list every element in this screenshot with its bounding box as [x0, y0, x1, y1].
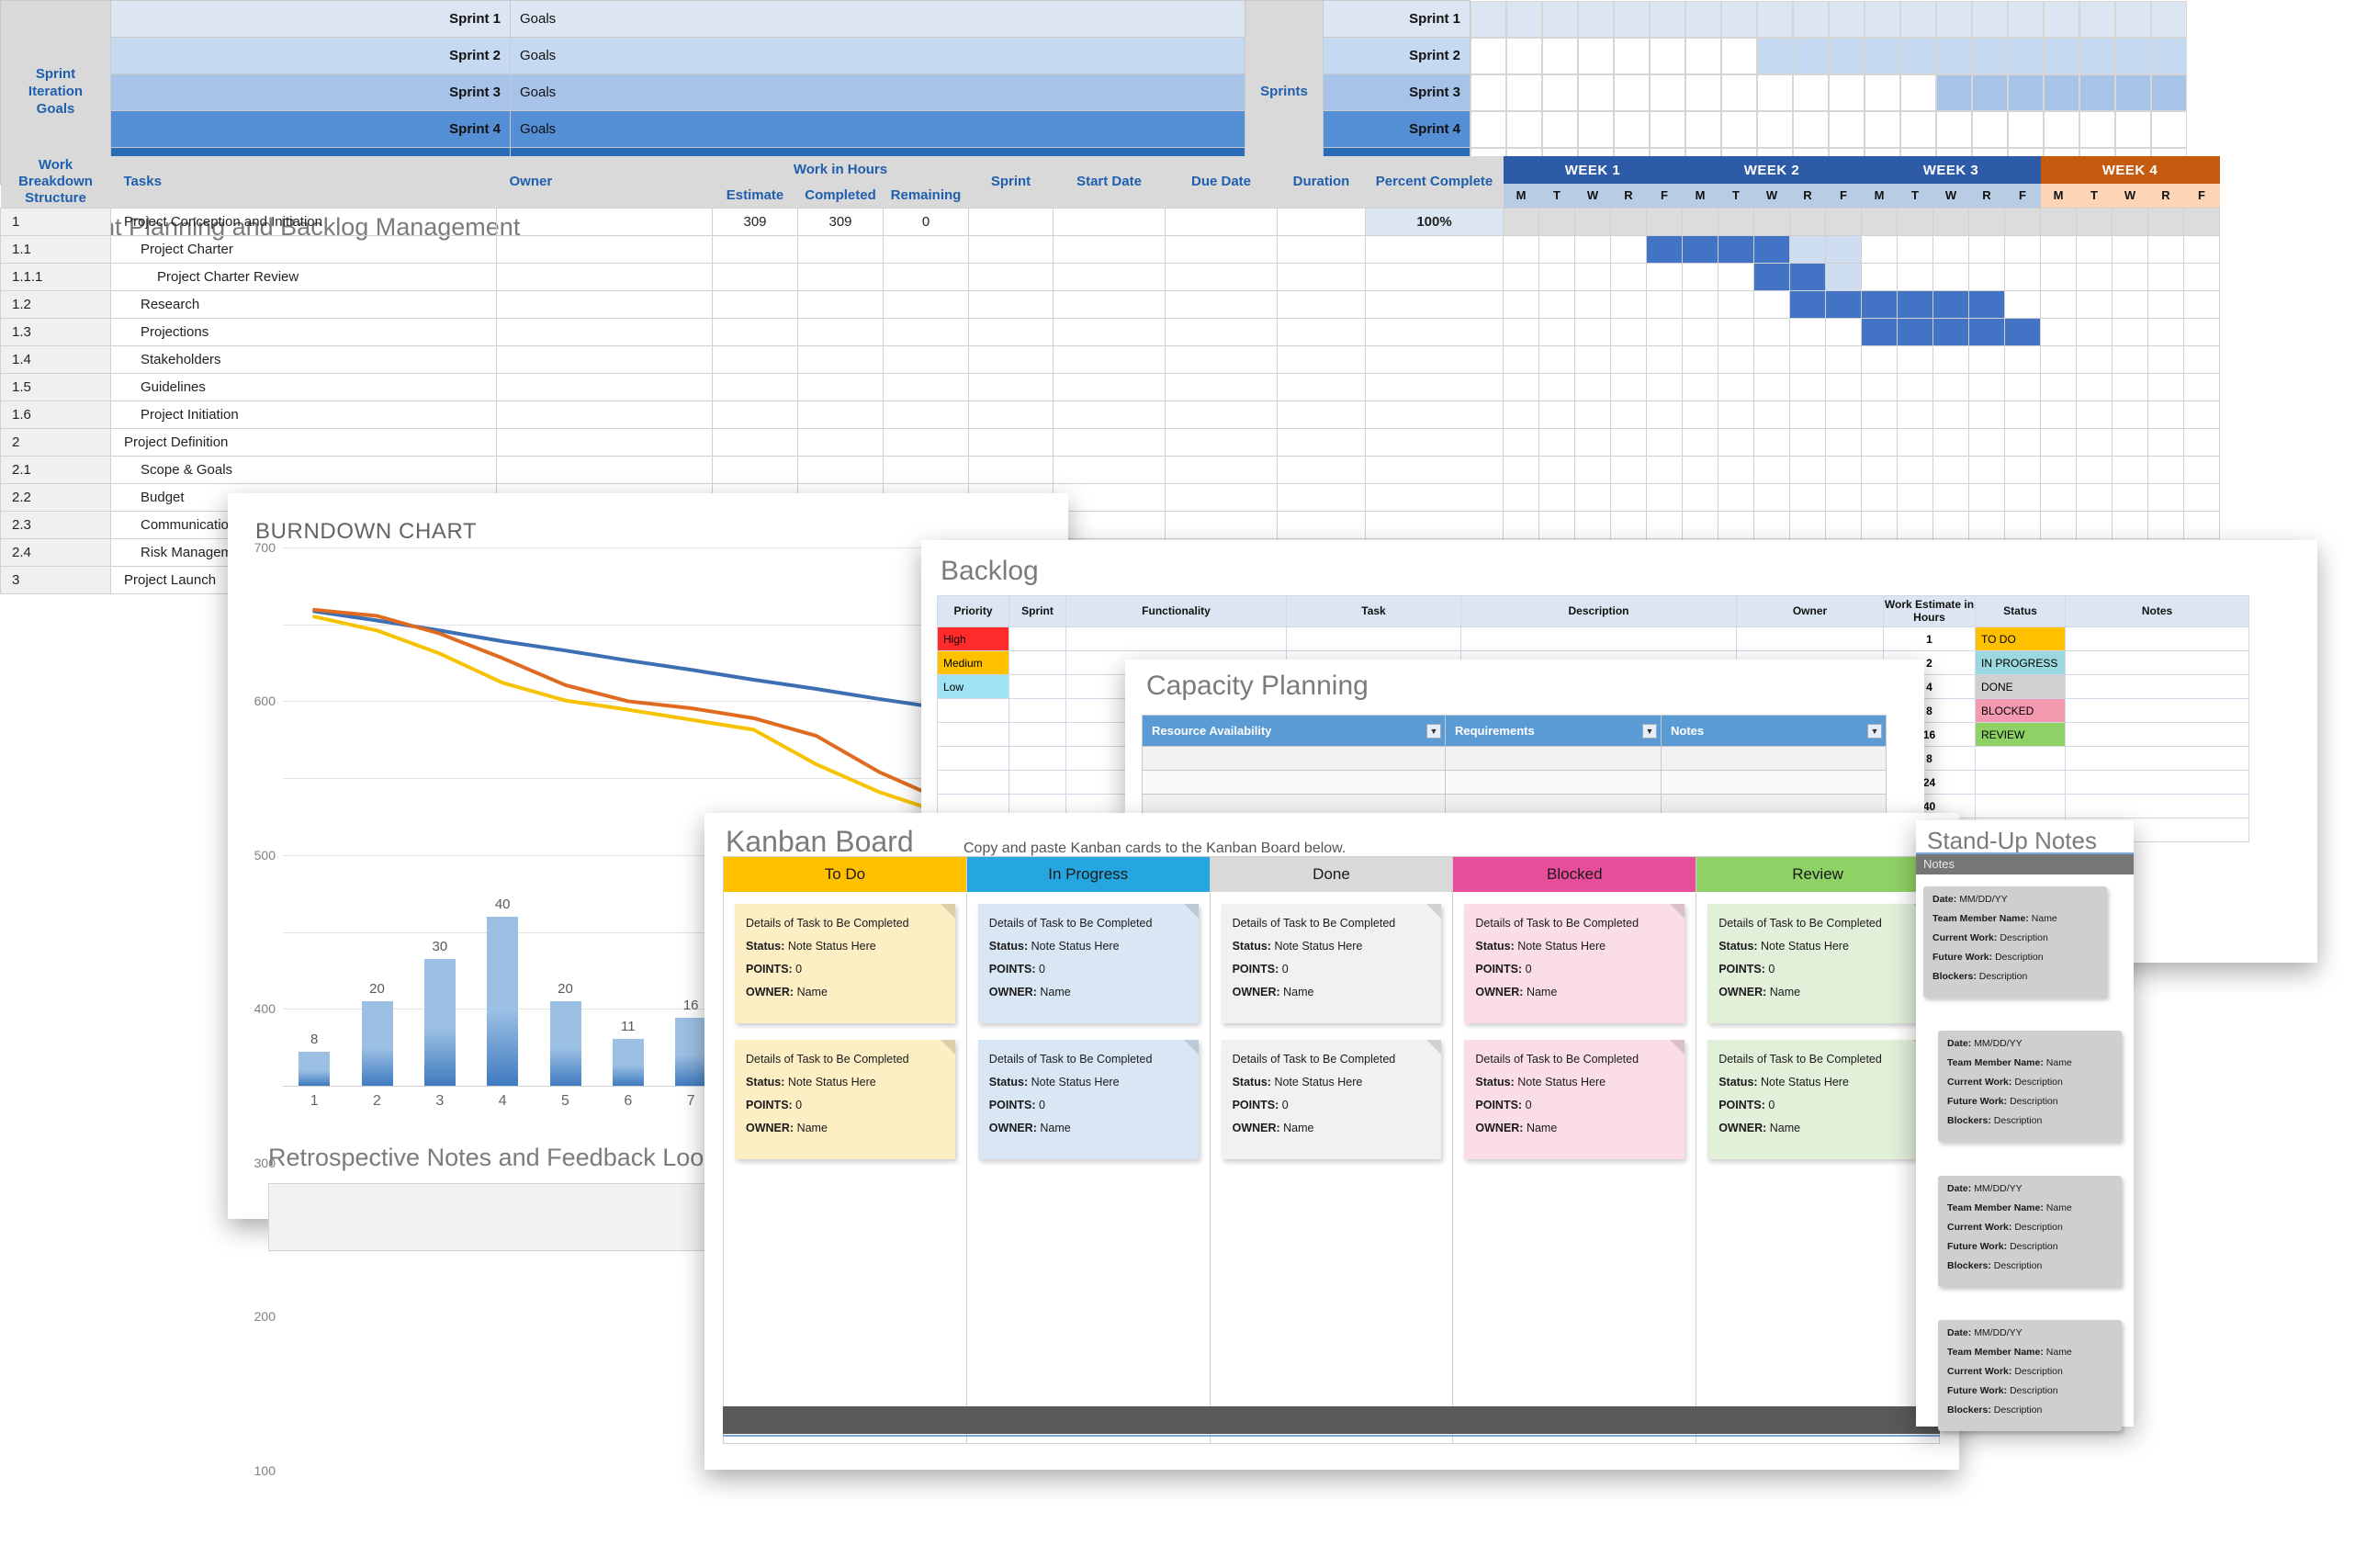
- kanban-column-header[interactable]: Review: [1696, 857, 1939, 892]
- cell-estimate[interactable]: [713, 373, 798, 400]
- backlog-cell-status[interactable]: [1976, 747, 2066, 771]
- cell-completed[interactable]: [798, 428, 884, 456]
- cell-sprint[interactable]: [969, 400, 1054, 428]
- card-label: OWNER:: [1718, 1122, 1770, 1134]
- sprint-goal-cell[interactable]: Goals: [511, 1, 1245, 38]
- backlog-cell-sprint[interactable]: [1009, 747, 1066, 771]
- card-label: Status:: [746, 940, 788, 953]
- day-header-f: F: [1826, 184, 1862, 208]
- backlog-cell-status[interactable]: REVIEW: [1976, 723, 2066, 747]
- x-axis-tick: 4: [499, 1093, 507, 1110]
- cell-remaining[interactable]: [884, 235, 969, 263]
- backlog-cell-sprint[interactable]: [1009, 771, 1066, 795]
- cell-completed[interactable]: [798, 456, 884, 483]
- cell-due-date[interactable]: [1166, 483, 1278, 511]
- timeline-cell: [1900, 111, 1936, 148]
- cell-start-date[interactable]: [1054, 235, 1166, 263]
- backlog-cell-sprint[interactable]: [1009, 723, 1066, 747]
- cell-sprint[interactable]: [969, 428, 1054, 456]
- kanban-card[interactable]: Details of Task to Be CompletedStatus: N…: [978, 1040, 1199, 1159]
- card-status: Status: Note Status Here: [1475, 940, 1673, 953]
- kanban-column-header[interactable]: To Do: [724, 857, 966, 892]
- kanban-column-header[interactable]: Blocked: [1453, 857, 1696, 892]
- gantt-cell: [2113, 290, 2148, 318]
- cell-sprint[interactable]: [969, 318, 1054, 345]
- cell-duration[interactable]: [1278, 400, 1366, 428]
- backlog-cell-priority[interactable]: [938, 771, 1009, 795]
- cell-estimate[interactable]: 309: [713, 208, 798, 235]
- kanban-card[interactable]: Details of Task to Be CompletedStatus: N…: [1464, 1040, 1685, 1159]
- cell-duration[interactable]: [1278, 428, 1366, 456]
- cell-due-date[interactable]: [1166, 345, 1278, 373]
- sprint-name-cell: Sprint 3: [111, 74, 511, 111]
- note-label: Future Work:: [1947, 1241, 2010, 1252]
- card-label: OWNER:: [989, 986, 1041, 998]
- timeline-cell: [2151, 74, 2187, 111]
- week-header-1: WEEK 1: [1504, 156, 1683, 184]
- cell-owner[interactable]: [497, 208, 713, 235]
- backlog-cell-sprint[interactable]: [1009, 627, 1066, 651]
- cell-completed[interactable]: [798, 318, 884, 345]
- cell-estimate[interactable]: [713, 428, 798, 456]
- cell-duration[interactable]: [1278, 263, 1366, 290]
- gantt-cell: [2041, 290, 2077, 318]
- gantt-cell: [1611, 290, 1647, 318]
- cell-owner[interactable]: [497, 263, 713, 290]
- timeline-cell: [1721, 1, 1757, 38]
- backlog-col-header-5: Owner: [1737, 596, 1884, 627]
- gantt-cell: [1647, 345, 1683, 373]
- gantt-cell: [1683, 235, 1718, 263]
- cell-completed[interactable]: [798, 290, 884, 318]
- cell-duration[interactable]: [1278, 483, 1366, 511]
- day-header-m: M: [2041, 184, 2077, 208]
- backlog-cell-notes[interactable]: [2066, 771, 2249, 795]
- cell-remaining[interactable]: [884, 318, 969, 345]
- kanban-column-to-do: To DoDetails of Task to Be CompletedStat…: [724, 857, 967, 1443]
- backlog-cell-sprint[interactable]: [1009, 675, 1066, 699]
- cell-due-date[interactable]: [1166, 208, 1278, 235]
- cell-sprint[interactable]: [969, 456, 1054, 483]
- backlog-cell-sprint[interactable]: [1009, 651, 1066, 675]
- gantt-cell: [1539, 208, 1575, 235]
- cell-percent-complete[interactable]: [1366, 511, 1504, 538]
- timeline-cell: [1506, 74, 1542, 111]
- backlog-col-header-8: Notes: [2066, 596, 2249, 627]
- gantt-cell: [2148, 208, 2184, 235]
- note-label: Date:: [1947, 1327, 1974, 1338]
- cell-percent-complete[interactable]: [1366, 318, 1504, 345]
- cell-start-date[interactable]: [1054, 345, 1166, 373]
- kanban-card[interactable]: Details of Task to Be CompletedStatus: N…: [735, 904, 955, 1023]
- timeline-cell: [1972, 74, 2008, 111]
- cell-start-date[interactable]: [1054, 400, 1166, 428]
- sprint-name-cell-right: Sprint 2: [1324, 38, 1470, 74]
- cell-completed[interactable]: [798, 345, 884, 373]
- card-label: OWNER:: [1233, 1122, 1284, 1134]
- backlog-cell-status[interactable]: TO DO: [1976, 627, 2066, 651]
- capacity-cell[interactable]: [1143, 771, 1446, 795]
- gantt-cell: [1969, 318, 2005, 345]
- timeline-cell: [1793, 1, 1829, 38]
- cell-sprint[interactable]: [969, 345, 1054, 373]
- cell-due-date[interactable]: [1166, 263, 1278, 290]
- cell-duration[interactable]: [1278, 208, 1366, 235]
- cell-wbs: 1.6: [1, 400, 111, 428]
- cell-task[interactable]: Project Charter: [111, 235, 497, 263]
- backlog-cell-notes[interactable]: [2066, 699, 2249, 723]
- y-axis-tick: 700: [254, 540, 276, 555]
- timeline-cell: [1542, 38, 1578, 74]
- cell-task[interactable]: Stakeholders: [111, 345, 497, 373]
- cell-task[interactable]: Guidelines: [111, 373, 497, 400]
- cell-owner[interactable]: [497, 345, 713, 373]
- cell-percent-complete[interactable]: [1366, 456, 1504, 483]
- sprint-goal-cell[interactable]: Goals: [511, 111, 1245, 148]
- cell-owner[interactable]: [497, 235, 713, 263]
- backlog-cell-priority[interactable]: [938, 699, 1009, 723]
- gantt-cell: [2005, 400, 2041, 428]
- note-label: Team Member Name:: [1947, 1347, 2046, 1358]
- backlog-cell-status[interactable]: BLOCKED: [1976, 699, 2066, 723]
- gantt-cell: [1718, 483, 1754, 511]
- gantt-cell: [1504, 483, 1539, 511]
- gantt-cell: [1862, 318, 1898, 345]
- chevron-down-icon[interactable]: ▼: [1867, 724, 1882, 739]
- gantt-cell: [1933, 428, 1969, 456]
- card-label: Status:: [1718, 940, 1761, 953]
- gantt-cell: [2077, 345, 2113, 373]
- cell-remaining[interactable]: [884, 290, 969, 318]
- cell-start-date[interactable]: [1054, 428, 1166, 456]
- cell-start-date[interactable]: [1054, 483, 1166, 511]
- cell-start-date[interactable]: [1054, 456, 1166, 483]
- kanban-card[interactable]: Details of Task to Be CompletedStatus: N…: [1707, 904, 1928, 1023]
- card-owner: OWNER: Name: [989, 1122, 1188, 1134]
- cell-estimate[interactable]: [713, 456, 798, 483]
- gantt-cell: [2005, 373, 2041, 400]
- sprint-goal-cell[interactable]: Goals: [511, 74, 1245, 111]
- cell-duration[interactable]: [1278, 373, 1366, 400]
- cell-duration[interactable]: [1278, 456, 1366, 483]
- backlog-cell-status[interactable]: DONE: [1976, 675, 2066, 699]
- backlog-cell-status[interactable]: [1976, 795, 2066, 818]
- cell-due-date[interactable]: [1166, 400, 1278, 428]
- cell-owner[interactable]: [497, 373, 713, 400]
- cell-sprint[interactable]: [969, 263, 1054, 290]
- cell-percent-complete[interactable]: 100%: [1366, 208, 1504, 235]
- cell-remaining[interactable]: [884, 400, 969, 428]
- table-row: 1.4Stakeholders: [1, 345, 2220, 373]
- cell-completed[interactable]: 309: [798, 208, 884, 235]
- capacity-header-row: Resource Availability▼Requirements▼Notes…: [1143, 716, 1887, 747]
- cell-task[interactable]: Project Definition: [111, 428, 497, 456]
- cell-remaining[interactable]: [884, 373, 969, 400]
- card-label: Status:: [1233, 940, 1275, 953]
- backlog-cell-priority[interactable]: [938, 723, 1009, 747]
- capacity-cell[interactable]: [1446, 747, 1662, 771]
- standup-note[interactable]: Date: MM/DD/YYTeam Member Name: NameCurr…: [1923, 886, 2107, 998]
- timeline-cell: [1865, 111, 1900, 148]
- cell-owner[interactable]: [497, 428, 713, 456]
- backlog-cell-task[interactable]: [1287, 627, 1461, 651]
- cell-percent-complete[interactable]: [1366, 483, 1504, 511]
- cell-sprint[interactable]: [969, 208, 1054, 235]
- note-label: Blockers:: [1932, 971, 1979, 982]
- cell-completed[interactable]: [798, 235, 884, 263]
- card-points: POINTS: 0: [1233, 963, 1431, 976]
- kanban-card[interactable]: Details of Task to Be CompletedStatus: N…: [1464, 904, 1685, 1023]
- backlog-cell-notes[interactable]: [2066, 627, 2249, 651]
- note-label: Date:: [1932, 894, 1959, 905]
- gantt-cell: [1718, 400, 1754, 428]
- cell-estimate[interactable]: [713, 235, 798, 263]
- capacity-cell[interactable]: [1662, 771, 1887, 795]
- kanban-card[interactable]: Details of Task to Be CompletedStatus: N…: [1222, 904, 1442, 1023]
- cell-percent-complete[interactable]: [1366, 373, 1504, 400]
- cell-task[interactable]: Research: [111, 290, 497, 318]
- gantt-cell: [1683, 456, 1718, 483]
- gantt-cell: [2041, 456, 2077, 483]
- card-fold-corner: [941, 904, 955, 919]
- gantt-cell: [1539, 345, 1575, 373]
- col-header-work-in-hours: Work in Hours: [713, 156, 969, 184]
- note-member: Team Member Name: Name: [1932, 913, 2098, 924]
- card-status: Status: Note Status Here: [1718, 940, 1917, 953]
- gantt-cell: [1718, 263, 1754, 290]
- cell-estimate[interactable]: [713, 400, 798, 428]
- card-owner: OWNER: Name: [1475, 986, 1673, 998]
- gantt-cell: [2113, 235, 2148, 263]
- kanban-card[interactable]: Details of Task to Be CompletedStatus: N…: [735, 1040, 955, 1159]
- capacity-cell[interactable]: [1143, 747, 1446, 771]
- col-header-start-date: Start Date: [1054, 156, 1166, 208]
- card-points: POINTS: 0: [989, 1099, 1188, 1111]
- cell-start-date[interactable]: [1054, 290, 1166, 318]
- cell-owner[interactable]: [497, 456, 713, 483]
- note-date: Date: MM/DD/YY: [1932, 894, 2098, 905]
- cell-percent-complete[interactable]: [1366, 235, 1504, 263]
- capacity-col-header-1: Requirements▼: [1446, 716, 1662, 747]
- gantt-cell: [1969, 456, 2005, 483]
- timeline-cell: [1972, 1, 2008, 38]
- gantt-cell: [1933, 400, 1969, 428]
- gantt-cell: [1862, 428, 1898, 456]
- cell-duration[interactable]: [1278, 318, 1366, 345]
- card-fold-corner: [1426, 904, 1441, 919]
- timeline-cell: [1650, 111, 1685, 148]
- timeline-cell: [1542, 1, 1578, 38]
- note-label: Team Member Name:: [1947, 1202, 2046, 1213]
- card-owner: OWNER: Name: [746, 1122, 944, 1134]
- gantt-cell: [2005, 345, 2041, 373]
- card-fold-corner: [941, 1040, 955, 1055]
- card-details: Details of Task to Be Completed: [1233, 917, 1431, 930]
- cell-start-date[interactable]: [1054, 318, 1166, 345]
- backlog-cell-priority[interactable]: Low: [938, 675, 1009, 699]
- timeline-cell: [1865, 38, 1900, 74]
- cell-wbs: 2.3: [1, 511, 111, 538]
- gantt-cell: [1862, 290, 1898, 318]
- standup-note[interactable]: Date: MM/DD/YYTeam Member Name: NameCurr…: [1938, 1031, 2122, 1142]
- gantt-cell: [1504, 318, 1539, 345]
- cell-due-date[interactable]: [1166, 290, 1278, 318]
- timeline-cell: [1685, 1, 1721, 38]
- backlog-cell-owner[interactable]: [1737, 627, 1884, 651]
- cell-due-date[interactable]: [1166, 511, 1278, 538]
- cell-estimate[interactable]: [713, 345, 798, 373]
- day-header-f: F: [1647, 184, 1683, 208]
- cell-remaining[interactable]: [884, 456, 969, 483]
- cell-due-date[interactable]: [1166, 373, 1278, 400]
- cell-due-date[interactable]: [1166, 235, 1278, 263]
- cell-sprint[interactable]: [969, 373, 1054, 400]
- backlog-col-header-1: Sprint: [1009, 596, 1066, 627]
- cell-wbs: 1.1: [1, 235, 111, 263]
- kanban-column-header[interactable]: Done: [1211, 857, 1453, 892]
- cell-duration[interactable]: [1278, 345, 1366, 373]
- week-header-3: WEEK 3: [1862, 156, 2041, 184]
- kanban-card[interactable]: Details of Task to Be CompletedStatus: N…: [1222, 1040, 1442, 1159]
- capacity-cell[interactable]: [1662, 747, 1887, 771]
- cell-due-date[interactable]: [1166, 318, 1278, 345]
- gantt-cell: [1898, 511, 1933, 538]
- gantt-cell: [1754, 373, 1790, 400]
- cell-percent-complete[interactable]: [1366, 263, 1504, 290]
- backlog-cell-sprint[interactable]: [1009, 699, 1066, 723]
- gantt-cell: [1611, 456, 1647, 483]
- cell-task[interactable]: Projections: [111, 318, 497, 345]
- gantt-cell: [2148, 235, 2184, 263]
- kanban-card[interactable]: Details of Task to Be CompletedStatus: N…: [1707, 1040, 1928, 1159]
- standup-note[interactable]: Date: MM/DD/YYTeam Member Name: NameCurr…: [1938, 1320, 2122, 1431]
- backlog-cell-notes[interactable]: [2066, 795, 2249, 818]
- cell-completed[interactable]: [798, 400, 884, 428]
- gantt-cell: [1862, 373, 1898, 400]
- cell-completed[interactable]: [798, 373, 884, 400]
- gantt-cell: [1826, 290, 1862, 318]
- gantt-cell: [1754, 456, 1790, 483]
- cell-percent-complete[interactable]: [1366, 290, 1504, 318]
- backlog-cell-status[interactable]: [1976, 771, 2066, 795]
- gantt-cell: [1790, 456, 1826, 483]
- cell-remaining[interactable]: [884, 428, 969, 456]
- backlog-cell-functionality[interactable]: [1066, 627, 1287, 651]
- gantt-cell: [1898, 400, 1933, 428]
- gantt-cell: [1647, 373, 1683, 400]
- chevron-down-icon[interactable]: ▼: [1642, 724, 1657, 739]
- backlog-cell-description[interactable]: [1461, 627, 1737, 651]
- card-details: Details of Task to Be Completed: [989, 917, 1188, 930]
- gantt-cell: [1611, 208, 1647, 235]
- cell-due-date[interactable]: [1166, 428, 1278, 456]
- chevron-down-icon[interactable]: ▼: [1426, 724, 1441, 739]
- table-row: 2Project Definition: [1, 428, 2220, 456]
- backlog-cell-status[interactable]: IN PROGRESS: [1976, 651, 2066, 675]
- cell-start-date[interactable]: [1054, 373, 1166, 400]
- cell-estimate[interactable]: [713, 290, 798, 318]
- backlog-cell-priority[interactable]: [938, 747, 1009, 771]
- timeline-cell: [2008, 38, 2044, 74]
- cell-owner[interactable]: [497, 318, 713, 345]
- cell-duration[interactable]: [1278, 511, 1366, 538]
- cell-sprint[interactable]: [969, 290, 1054, 318]
- cell-owner[interactable]: [497, 400, 713, 428]
- cell-completed[interactable]: [798, 263, 884, 290]
- capacity-cell[interactable]: [1446, 771, 1662, 795]
- cell-task[interactable]: Project Conception and Initiation: [111, 208, 497, 235]
- timeline-cell: [1829, 111, 1865, 148]
- backlog-cell-notes[interactable]: [2066, 747, 2249, 771]
- cell-sprint[interactable]: [969, 235, 1054, 263]
- card-label: Status:: [989, 1076, 1031, 1089]
- col-header-percent-complete: Percent Complete: [1366, 156, 1504, 208]
- cell-start-date[interactable]: [1054, 208, 1166, 235]
- backlog-cell-priority[interactable]: Medium: [938, 651, 1009, 675]
- cell-percent-complete[interactable]: [1366, 428, 1504, 456]
- gantt-cell: [1504, 400, 1539, 428]
- gantt-cell: [1862, 235, 1898, 263]
- backlog-cell-notes[interactable]: [2066, 723, 2249, 747]
- card-label: Status:: [1475, 1076, 1517, 1089]
- cell-duration[interactable]: [1278, 235, 1366, 263]
- gantt-cell: [2113, 373, 2148, 400]
- cell-due-date[interactable]: [1166, 456, 1278, 483]
- gantt-cell: [2041, 318, 2077, 345]
- cell-task[interactable]: Scope & Goals: [111, 456, 497, 483]
- card-points: POINTS: 0: [746, 963, 944, 976]
- cell-estimate[interactable]: [713, 318, 798, 345]
- gantt-cell: [1611, 318, 1647, 345]
- gantt-cell: [2041, 263, 2077, 290]
- sprint-goal-cell[interactable]: Goals: [511, 38, 1245, 74]
- cell-start-date[interactable]: [1054, 511, 1166, 538]
- y-axis-tick: 600: [254, 694, 276, 708]
- cell-duration[interactable]: [1278, 290, 1366, 318]
- cell-estimate[interactable]: [713, 263, 798, 290]
- standup-note[interactable]: Date: MM/DD/YYTeam Member Name: NameCurr…: [1938, 1176, 2122, 1287]
- sprint-name-cell: Sprint 1: [111, 1, 511, 38]
- backlog-cell-priority[interactable]: High: [938, 627, 1009, 651]
- backlog-cell-work-estimate[interactable]: 1: [1884, 627, 1976, 651]
- backlog-cell-notes[interactable]: [2066, 651, 2249, 675]
- gantt-cell: [2041, 511, 2077, 538]
- cell-percent-complete[interactable]: [1366, 400, 1504, 428]
- cell-task[interactable]: Project Charter Review: [111, 263, 497, 290]
- cell-remaining[interactable]: [884, 263, 969, 290]
- card-owner: OWNER: Name: [1475, 1122, 1673, 1134]
- timeline-cell: [2008, 111, 2044, 148]
- timeline-cell: [1614, 1, 1650, 38]
- cell-start-date[interactable]: [1054, 263, 1166, 290]
- note-future-work: Future Work: Description: [1947, 1241, 2113, 1252]
- kanban-column-header[interactable]: In Progress: [967, 857, 1210, 892]
- cell-remaining[interactable]: [884, 345, 969, 373]
- cell-remaining[interactable]: 0: [884, 208, 969, 235]
- card-details: Details of Task to Be Completed: [746, 917, 944, 930]
- cell-percent-complete[interactable]: [1366, 345, 1504, 373]
- cell-task[interactable]: Project Initiation: [111, 400, 497, 428]
- kanban-card[interactable]: Details of Task to Be CompletedStatus: N…: [978, 904, 1199, 1023]
- timeline-cell: [1470, 74, 1506, 111]
- card-label: OWNER:: [746, 1122, 797, 1134]
- cell-owner[interactable]: [497, 290, 713, 318]
- backlog-cell-notes[interactable]: [2066, 675, 2249, 699]
- gantt-cell: [2184, 456, 2220, 483]
- sprint-goal-row: Sprint 3GoalsSprint 3: [1, 74, 2269, 111]
- cell-wbs: 1: [1, 208, 111, 235]
- gantt-cell: [2005, 483, 2041, 511]
